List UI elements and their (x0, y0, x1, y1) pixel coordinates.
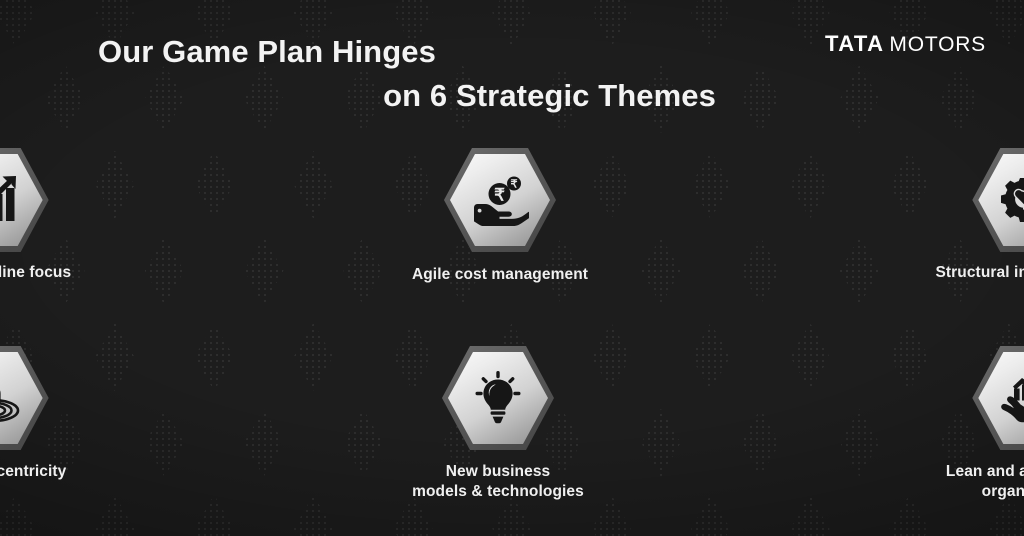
theme-label: Intense topline focus (0, 263, 71, 283)
logo-tata-text: TATA (825, 31, 884, 56)
hexagon-badge (0, 148, 49, 252)
slide-canvas: Our Game Plan Hinges on 6 Strategic Them… (0, 0, 1024, 536)
svg-text:₹: ₹ (510, 179, 517, 191)
person-on-target-rings-icon (0, 372, 24, 424)
lightbulb-idea-icon (470, 371, 526, 425)
hand-holding-rupee-coins-icon: ₹ ₹ (471, 174, 529, 226)
hexagon-face (0, 352, 43, 444)
hexagon-face (0, 154, 43, 246)
hexagon-face (978, 352, 1024, 444)
theme-label: Agile cost management (412, 265, 588, 285)
theme-card-lean-accountable-organization[interactable]: Lean and accountable organization (858, 346, 1024, 536)
theme-label: Lean and accountable organization (946, 462, 1024, 502)
page-title: Our Game Plan Hinges on 6 Strategic Them… (98, 30, 718, 118)
tata-motors-logo: TATAMOTORS (825, 31, 986, 57)
theme-card-intense-topline-focus[interactable]: Intense topline focus (0, 148, 163, 346)
strategic-themes-grid: Intense topline focus (0, 148, 1024, 536)
title-line-2: on 6 Strategic Themes (98, 74, 718, 118)
theme-card-new-business-models[interactable]: New business models & technologies (327, 346, 668, 536)
bar-chart-growth-arrow-icon (0, 175, 21, 225)
theme-card-customer-centricity[interactable]: Customer centricity (0, 346, 163, 536)
hexagon-badge (972, 148, 1024, 252)
theme-card-structural-improvements[interactable]: Structural improvements (858, 148, 1024, 346)
hexagon-badge (442, 346, 554, 450)
themes-row-1: Intense topline focus (0, 148, 1024, 346)
svg-text:₹: ₹ (494, 186, 505, 205)
logo-motors-text: MOTORS (889, 33, 986, 56)
theme-label: New business models & technologies (412, 462, 584, 502)
hexagon-badge (0, 346, 49, 450)
theme-card-agile-cost-management[interactable]: ₹ ₹ Agile cost management (329, 148, 670, 346)
themes-row-2: Customer centricity (0, 346, 1024, 536)
hexagon-face (978, 154, 1024, 246)
hexagon-badge: ₹ ₹ (444, 148, 556, 252)
gear-screwdriver-wrench-icon (1000, 174, 1024, 226)
hexagon-badge (972, 346, 1024, 450)
theme-label: Customer centricity (0, 462, 66, 482)
hands-holding-bar-chart-icon (997, 371, 1024, 425)
title-line-1: Our Game Plan Hinges (98, 34, 436, 69)
theme-label: Structural improvements (935, 263, 1024, 283)
